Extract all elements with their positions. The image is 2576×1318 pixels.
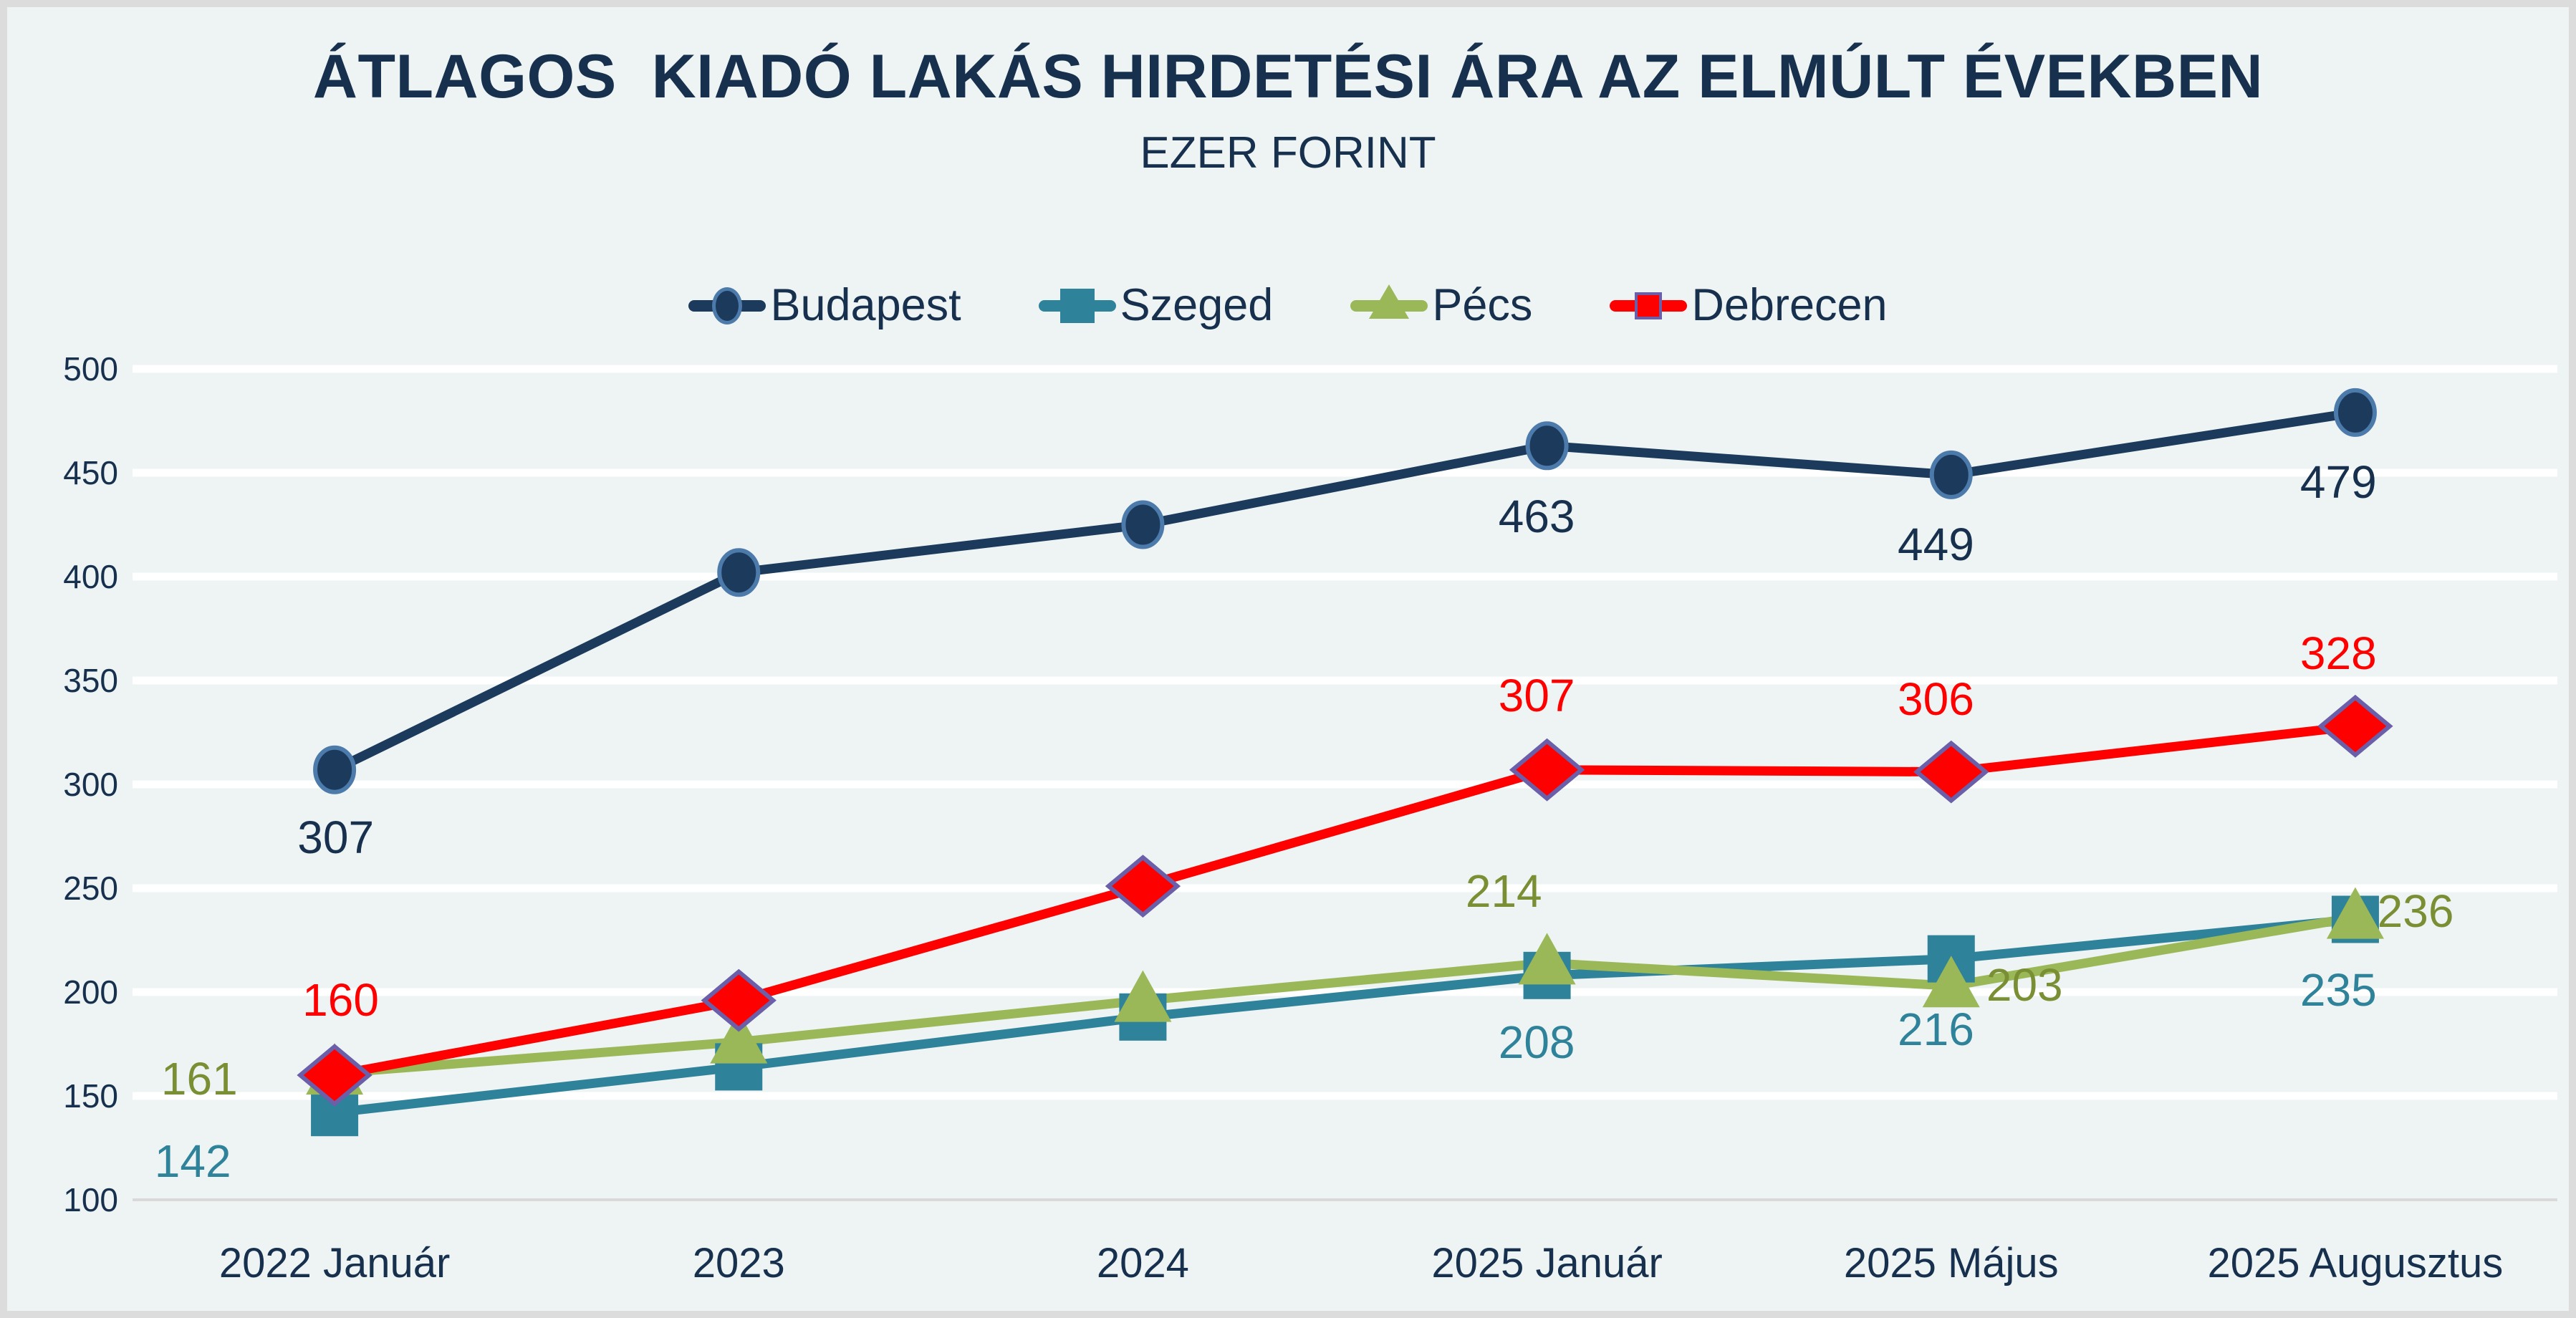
data-point-label: 161	[161, 1052, 238, 1105]
data-point-label: 306	[1898, 673, 1974, 726]
data-point-label: 235	[2300, 963, 2377, 1016]
data-point-label: 449	[1898, 518, 1974, 571]
data-point-label: 307	[297, 811, 374, 864]
data-point-label: 328	[2300, 627, 2377, 680]
plot-area: 100150200250300350400450500 2022 Január2…	[7, 7, 2576, 1318]
data-point-label: 216	[1898, 1003, 1974, 1056]
data-point-label: 463	[1499, 490, 1575, 543]
chart-canvas: ÁTLAGOS KIADÓ LAKÁS HIRDETÉSI ÁRA AZ ELM…	[0, 0, 2576, 1318]
data-point-label: 307	[1499, 669, 1575, 722]
data-point-label: 214	[1466, 865, 1542, 918]
data-point-label: 160	[302, 973, 379, 1026]
data-label-layer: 3071601611424633072142084493062032164793…	[7, 7, 2576, 1318]
data-point-label: 479	[2300, 456, 2377, 509]
data-point-label: 236	[2378, 885, 2454, 938]
data-point-label: 208	[1499, 1016, 1575, 1069]
data-point-label: 203	[1986, 958, 2063, 1011]
data-point-label: 142	[155, 1135, 231, 1188]
